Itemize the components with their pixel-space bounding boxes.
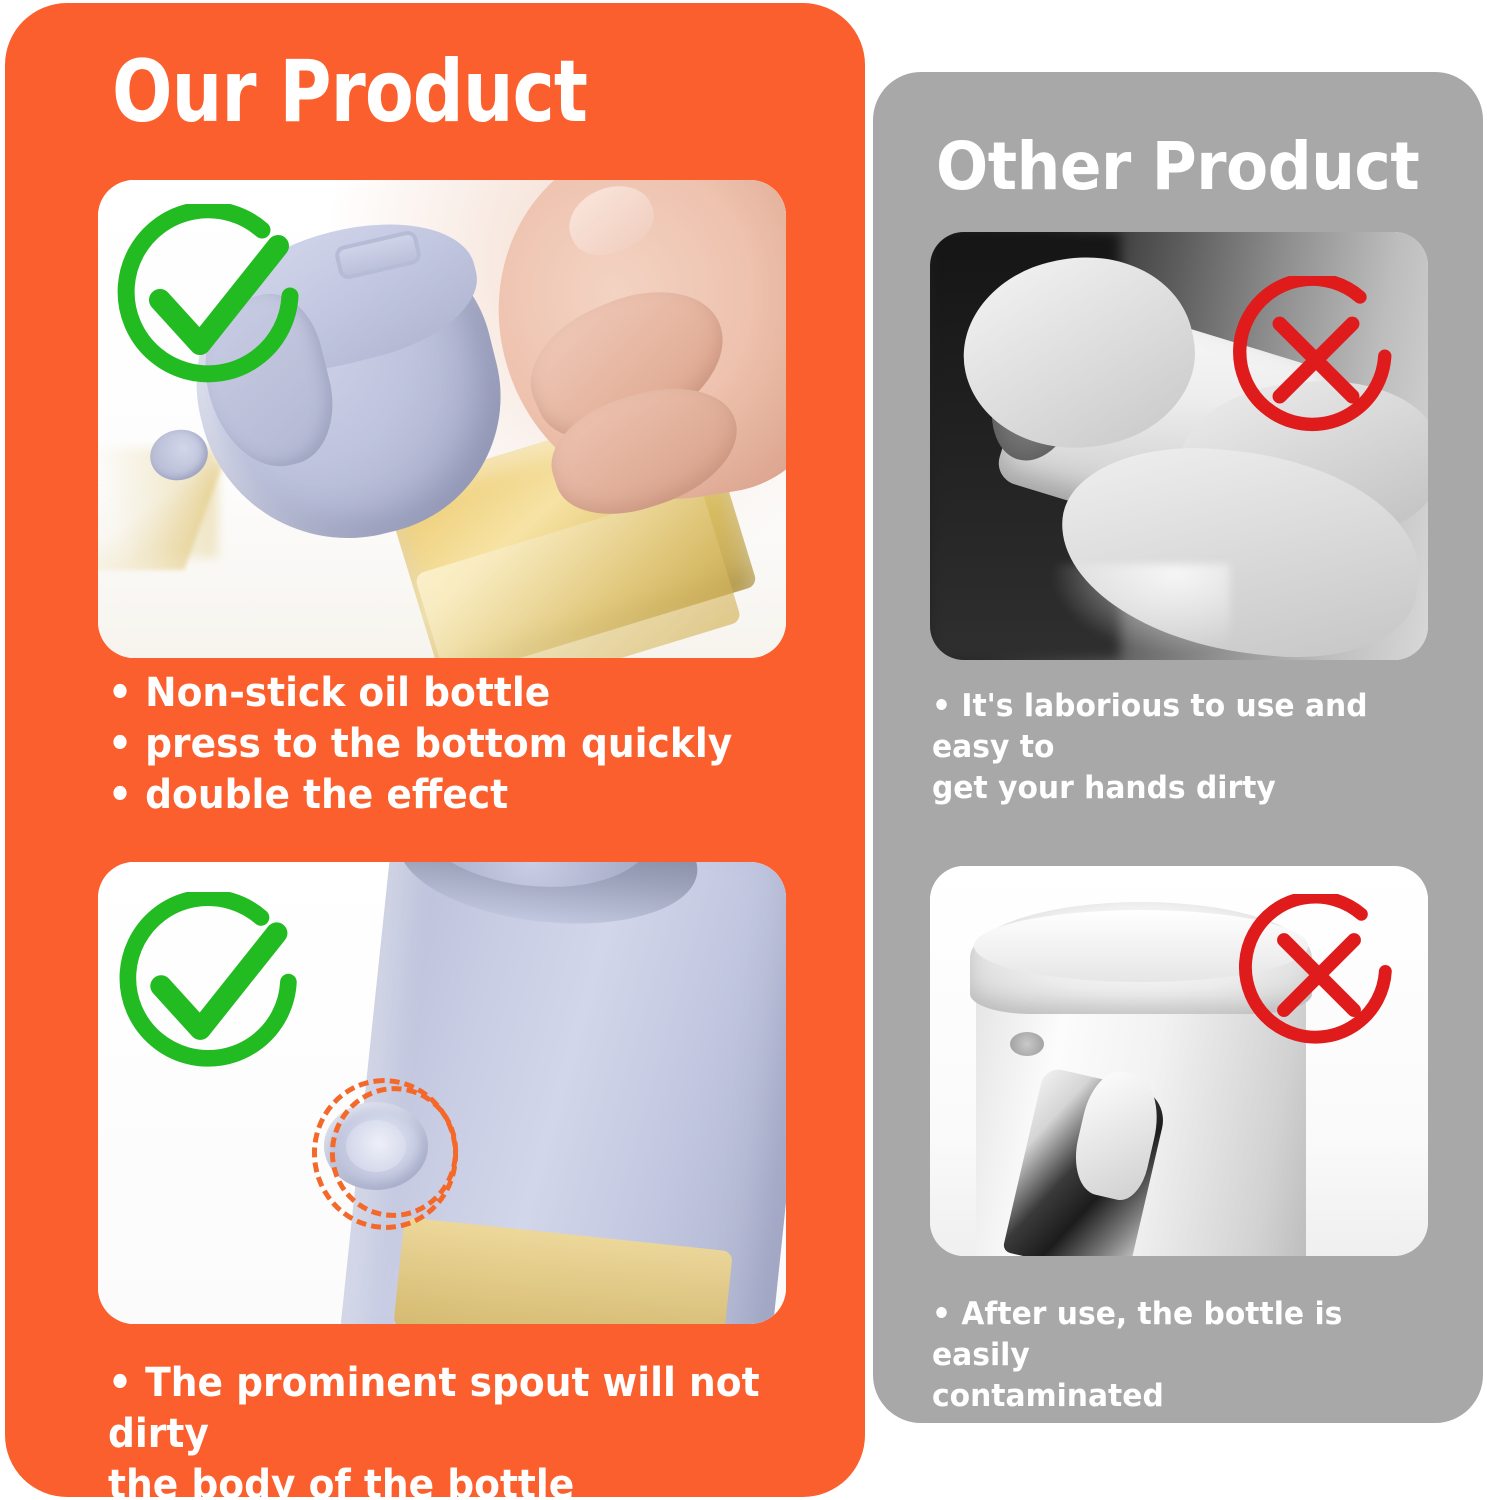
other-product-card-1 (930, 232, 1428, 660)
bullet-item: the body of the bottle (108, 1460, 785, 1500)
bullet-item: • double the effect (108, 770, 804, 821)
red-cross-circle-icon (1236, 894, 1402, 1058)
bullet-item: • The prominent spout will not dirty (108, 1358, 785, 1460)
bullet-item: • It's laborious to use and easy to (932, 686, 1450, 768)
other-product-title: Other Product (936, 128, 1419, 205)
our-product-bullets-1: • Non-stick oil bottle • press to the bo… (108, 668, 804, 820)
our-product-title: Our Product (112, 42, 587, 142)
bullet-item: • Non-stick oil bottle (108, 668, 804, 719)
our-product-bullets-2: • The prominent spout will not dirty the… (108, 1358, 785, 1500)
bullet-item: get your hands dirty (932, 768, 1450, 809)
our-product-card-2 (98, 862, 786, 1324)
bullet-item: • After use, the bottle is easily (932, 1294, 1450, 1376)
other-product-bullets-1: • It's laborious to use and easy to get … (932, 686, 1450, 810)
comparison-infographic: Our Product • Non-stick oil bottle • pre… (0, 0, 1487, 1500)
red-cross-circle-icon (1230, 276, 1402, 446)
other-product-bullets-2: • After use, the bottle is easily contam… (932, 1294, 1450, 1418)
green-check-circle-icon (112, 204, 312, 400)
other-product-card-2 (930, 866, 1428, 1256)
bullet-item: • press to the bottom quickly (108, 719, 804, 770)
our-product-card-1 (98, 180, 786, 658)
green-check-circle-icon (114, 892, 310, 1084)
bullet-item: contaminated (932, 1376, 1450, 1417)
